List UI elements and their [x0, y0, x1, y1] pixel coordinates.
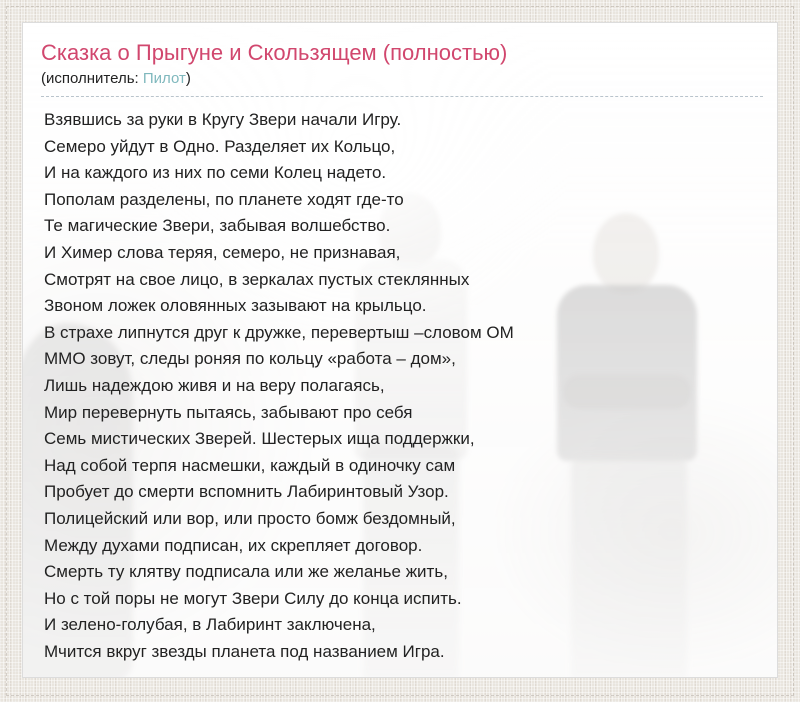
lyrics-line: Семеро уйдут в Одно. Разделяет их Кольцо… — [44, 134, 757, 161]
page-title: Сказка о Прыгуне и Скользящем (полностью… — [41, 39, 757, 67]
lyrics-line: Над собой терпя насмешки, каждый в одино… — [44, 453, 757, 480]
lyrics-line: Те магические Звери, забывая волшебство. — [44, 213, 757, 240]
lyrics-line: Взявшись за руки в Кругу Звери начали Иг… — [44, 107, 757, 134]
song-card: Сказка о Прыгуне и Скользящем (полностью… — [22, 22, 778, 678]
lyrics-line: В страхе липнутся друг к дружке, перевер… — [44, 320, 757, 347]
lyrics-line: Семь мистических Зверей. Шестерых ища по… — [44, 426, 757, 453]
lyrics-line: Пробует до смерти вспомнить Лабиринтовый… — [44, 479, 757, 506]
lyrics-line: И на каждого из них по семи Колец надето… — [44, 160, 757, 187]
lyrics-line: Смотрят на свое лицо, в зеркалах пустых … — [44, 267, 757, 294]
artist-suffix: ) — [186, 70, 191, 87]
lyrics-line: Между духами подписан, их скрепляет дого… — [44, 533, 757, 560]
lyrics-line: Но с той поры не могут Звери Силу до кон… — [44, 586, 757, 613]
lyrics-line: И зелено-голубая, в Лабиринт заключена, — [44, 612, 757, 639]
lyrics-line: Смерть ту клятву подписала или же желань… — [44, 559, 757, 586]
page-root: Сказка о Прыгуне и Скользящем (полностью… — [0, 0, 800, 702]
lyrics-line: Лишь надеждою живя и на веру полагаясь, — [44, 373, 757, 400]
lyrics-line: Мир перевернуть пытаясь, забывают про се… — [44, 400, 757, 427]
lyrics-line: Звоном ложек оловянных зазывают на крыль… — [44, 293, 757, 320]
lyrics-line: Мчится вкруг звезды планета под название… — [44, 639, 757, 666]
lyrics-line: ММО зовут, следы роняя по кольцу «работа… — [44, 346, 757, 373]
artist-label: (исполнитель: — [41, 70, 139, 87]
lyrics-line: Пополам разделены, по планете ходят где-… — [44, 187, 757, 214]
lyrics-line: Полицейский или вор, или просто бомж без… — [44, 506, 757, 533]
header-divider — [41, 96, 763, 97]
artist-link[interactable]: Пилот — [143, 70, 186, 87]
artist-line: (исполнитель: Пилот) — [41, 69, 757, 96]
lyrics-line: И Химер слова теряя, семеро, не признава… — [44, 240, 757, 267]
lyrics-body: Взявшись за руки в Кругу Звери начали Иг… — [41, 107, 757, 665]
song-content: Сказка о Прыгуне и Скользящем (полностью… — [23, 23, 777, 665]
